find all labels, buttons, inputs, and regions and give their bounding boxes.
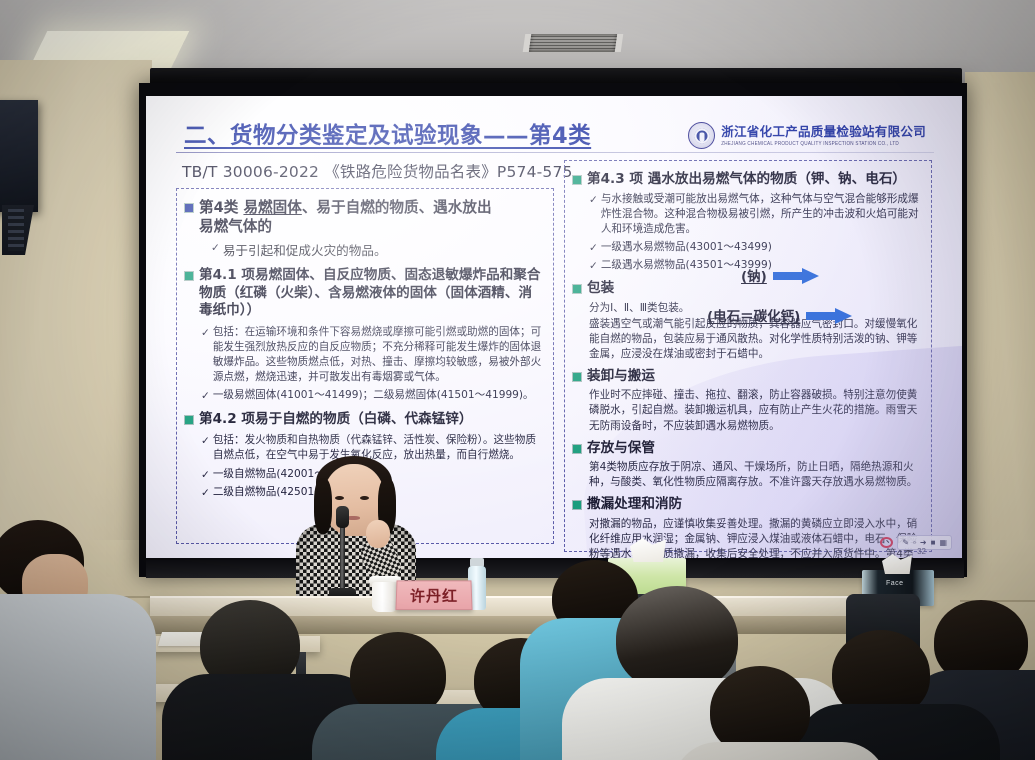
audience-shirt: [0, 594, 156, 760]
microphone-icon: [336, 512, 349, 608]
presenter-eye-left: [335, 496, 344, 500]
presenter-nameplate: 许丹红: [395, 580, 472, 610]
presenter-hair-left: [314, 478, 332, 534]
presenter-eye-right: [360, 496, 369, 500]
classroom-photo-scene: 二、货物分类鉴定及试验现象——第4类 浙江省化工产品质量检验站有限公司 ZHEJ…: [0, 0, 1035, 760]
tissue-sheet: [882, 554, 912, 574]
foreground-room: 许丹红 Face: [0, 0, 1035, 760]
audience-person: [0, 520, 152, 760]
audience-person: [686, 666, 876, 760]
microphone-head: [336, 506, 349, 528]
presenter-hand: [366, 520, 390, 548]
audience-shirt: [672, 742, 888, 760]
tissue-box-label: Face: [886, 580, 904, 587]
presenter-name: 许丹红: [410, 585, 459, 606]
tissue-sheet: [630, 538, 666, 562]
tea-cup-icon: [372, 582, 398, 612]
